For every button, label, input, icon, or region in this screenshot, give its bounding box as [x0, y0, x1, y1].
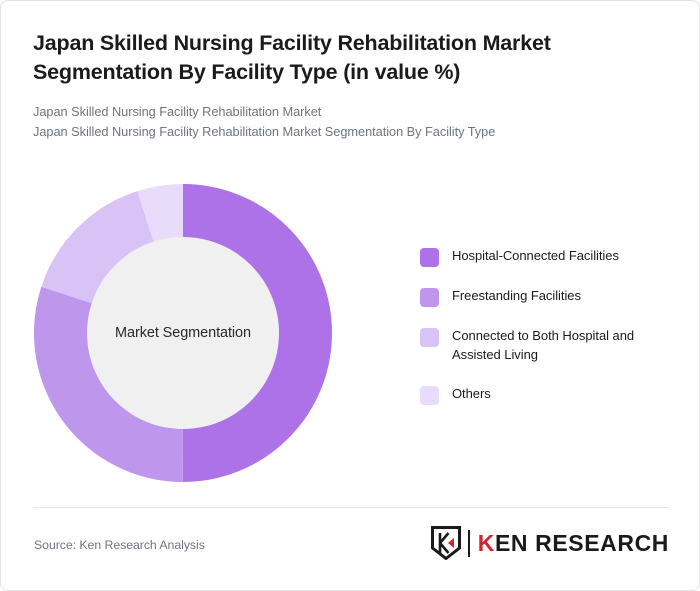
donut-hole — [87, 237, 279, 429]
legend-item-label: Freestanding Facilities — [452, 287, 581, 306]
chart-header: Japan Skilled Nursing Facility Rehabilit… — [33, 29, 653, 142]
chart-subtitle-secondary: Japan Skilled Nursing Facility Rehabilit… — [33, 122, 653, 142]
brand-name: KEN RESEARCH — [478, 530, 669, 557]
legend-item-connected-to-both[interactable]: Connected to Both Hospital and Assisted … — [420, 327, 676, 365]
chart-subtitle-primary: Japan Skilled Nursing Facility Rehabilit… — [33, 102, 653, 122]
legend-item-others[interactable]: Others — [420, 385, 676, 405]
page-title: Japan Skilled Nursing Facility Rehabilit… — [33, 29, 653, 86]
brand-logo: KEN RESEARCH — [431, 526, 669, 560]
source-note: Source: Ken Research Analysis — [34, 538, 205, 552]
chart-legend: Hospital-Connected Facilities Freestandi… — [420, 247, 676, 405]
legend-swatch-icon — [420, 248, 439, 267]
brand-name-accent: K — [478, 530, 495, 556]
brand-name-rest: EN RESEARCH — [495, 530, 669, 556]
legend-item-label: Hospital-Connected Facilities — [452, 247, 619, 266]
footer-divider — [33, 507, 669, 508]
donut-chart: Market Segmentation — [34, 184, 332, 482]
ken-research-shield-icon — [431, 526, 461, 560]
legend-item-hospital-connected-facilities[interactable]: Hospital-Connected Facilities — [420, 247, 676, 267]
legend-item-label: Others — [452, 385, 491, 404]
legend-swatch-icon — [420, 328, 439, 347]
legend-item-freestanding-facilities[interactable]: Freestanding Facilities — [420, 287, 676, 307]
chart-body: Market Segmentation Hospital-Connected F… — [1, 169, 700, 499]
chart-subtitles: Japan Skilled Nursing Facility Rehabilit… — [33, 102, 653, 142]
brand-divider-bar — [468, 530, 470, 557]
legend-swatch-icon — [420, 386, 439, 405]
donut-chart-svg — [34, 184, 332, 482]
legend-swatch-icon — [420, 288, 439, 307]
chart-card: Japan Skilled Nursing Facility Rehabilit… — [0, 0, 700, 591]
legend-item-label: Connected to Both Hospital and Assisted … — [452, 327, 676, 365]
